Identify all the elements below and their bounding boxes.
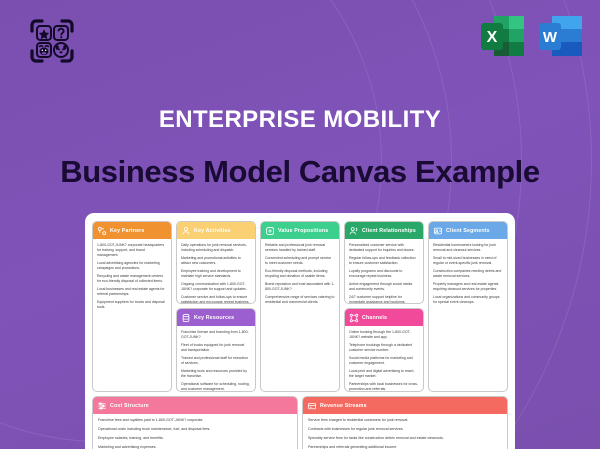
bullet: Marketing tools and resources provided b… <box>181 369 251 379</box>
cost-icon <box>97 401 107 411</box>
block-title: Client Segments <box>446 228 490 234</box>
bullet: Eco-friendly disposal methods, including… <box>265 269 335 279</box>
bullet: Employee salaries, training, and benefit… <box>98 436 292 441</box>
block-body: Personalized customer service with dedic… <box>345 239 423 303</box>
bullet: Personalized customer service with dedic… <box>349 243 419 253</box>
bullet: Equipment suppliers for trucks and dispo… <box>97 300 167 310</box>
bullet: Convenient scheduling and prompt service… <box>265 256 335 266</box>
bullet: Contracts with businesses for regular ju… <box>308 427 502 432</box>
bullet: Daily operations for junk removal servic… <box>181 243 251 253</box>
cow-icon <box>37 43 51 57</box>
activities-icon <box>181 226 191 236</box>
bullet: Comprehensive range of services catering… <box>265 295 335 305</box>
bullet: Regular follow-ups and feedback collecti… <box>349 256 419 266</box>
bullet: Trained and professional staff for execu… <box>181 356 251 366</box>
bullet: Franchise fees and royalties paid to 1-8… <box>98 418 292 423</box>
svg-text:W: W <box>543 29 558 46</box>
canvas-block-key-partners[interactable]: Key Partners 1-800-GOT-JUNK? corporate h… <box>92 221 172 392</box>
bullet: 24/7 customer support helpline for immed… <box>349 295 419 303</box>
svg-text:X: X <box>487 29 498 46</box>
block-title: Key Partners <box>110 228 144 234</box>
channels-icon <box>349 313 359 323</box>
bullet: Local businesses and real estate agents … <box>97 287 167 297</box>
page-title: Business Model Canvas Example <box>0 156 600 187</box>
brand-logo <box>22 14 82 68</box>
canvas-block-client-relationships[interactable]: Client Relationships Personalized custom… <box>344 221 424 304</box>
bullet: Telephone bookings through a dedicated c… <box>349 343 419 353</box>
block-title: Revenue Streams <box>320 403 367 409</box>
block-body: Franchise license and branding from 1-80… <box>177 326 255 391</box>
bullet: Local print and digital advertising to r… <box>349 369 419 379</box>
canvas-block-revenue-streams[interactable]: Revenue Streams Service fees charged to … <box>302 396 508 449</box>
canvas-block-key-resources[interactable]: Key Resources Franchise license and bran… <box>176 308 256 392</box>
canvas-top-row: Key Partners 1-800-GOT-JUNK? corporate h… <box>92 221 508 392</box>
relationships-icon <box>349 226 359 236</box>
bullet: Online booking through the 1-800-GOT-JUN… <box>349 330 419 340</box>
bullet: Loyalty programs and discounts to encour… <box>349 269 419 279</box>
bullet: Construction companies needing debris an… <box>433 269 503 279</box>
bullet: Operational software for scheduling, rou… <box>181 382 251 391</box>
slide-canvas: X W ENTERPRISE MOBILITY Business Model C… <box>0 0 600 449</box>
canvas-block-cost-structure[interactable]: Cost Structure Franchise fees and royalt… <box>92 396 298 449</box>
revenue-icon <box>307 401 317 411</box>
canvas-block-client-segments[interactable]: Client Segments Residential homeowners l… <box>428 221 508 392</box>
block-title: Channels <box>362 315 387 321</box>
value-icon <box>265 226 275 236</box>
bullet: Franchise license and branding from 1-80… <box>181 330 251 340</box>
bullet: Marketing and promotional activities to … <box>181 256 251 266</box>
block-body: Reliable and professional junk removal s… <box>261 239 339 391</box>
bullet: Service fees charged to residential cust… <box>308 418 502 423</box>
question-mark-icon <box>54 26 68 40</box>
bullet: Property managers and real estate agents… <box>433 282 503 292</box>
bullet: 1-800-GOT-JUNK? corporate headquarters f… <box>97 243 167 257</box>
canvas-block-value-propositions[interactable]: Value Propositions Reliable and professi… <box>260 221 340 392</box>
bullet: Partnerships with local businesses for c… <box>349 382 419 391</box>
segments-icon <box>433 226 443 236</box>
bullet: Ongoing communication with 1-800-GOT-JUN… <box>181 282 251 292</box>
bullet: Social media platforms for marketing and… <box>349 356 419 366</box>
block-title: Value Propositions <box>278 228 328 234</box>
block-body: Franchise fees and royalties paid to 1-8… <box>93 414 297 449</box>
bullet: Customer service and follow-ups to ensur… <box>181 295 251 303</box>
block-title: Key Activities <box>194 228 231 234</box>
block-body: Service fees charged to residential cust… <box>303 414 507 449</box>
excel-icon[interactable]: X <box>480 12 528 62</box>
block-title: Cost Structure <box>110 403 149 409</box>
bullet: Small to mid-sized businesses in need of… <box>433 256 503 266</box>
bullet: Employee training and development to mai… <box>181 269 251 279</box>
canvas-block-channels[interactable]: Channels Online booking through the 1-80… <box>344 308 424 392</box>
resources-icon <box>181 313 191 323</box>
bullet: Partnerships and referrals generating ad… <box>308 445 502 449</box>
block-body: Daily operations for junk removal servic… <box>177 239 255 303</box>
dog-icon <box>54 43 68 57</box>
block-body: 1-800-GOT-JUNK? corporate headquarters f… <box>93 239 171 391</box>
bullet: Operational costs including truck mainte… <box>98 427 292 432</box>
bullet: Local organizations and community groups… <box>433 295 503 305</box>
bullet: Local advertising agencies for marketing… <box>97 261 167 271</box>
bullet: Fleet of trucks equipped for junk remova… <box>181 343 251 353</box>
block-title: Key Resources <box>194 315 234 321</box>
office-app-icons: X W <box>480 12 586 62</box>
business-model-canvas: Key Partners 1-800-GOT-JUNK? corporate h… <box>85 213 515 449</box>
bullet: Brand reputation and trust associated wi… <box>265 282 335 292</box>
bullet: Reliable and professional junk removal s… <box>265 243 335 253</box>
canvas-bottom-row: Cost Structure Franchise fees and royalt… <box>92 396 508 449</box>
block-body: Online booking through the 1-800-GOT-JUN… <box>345 326 423 391</box>
title-block: ENTERPRISE MOBILITY Business Model Canva… <box>0 108 600 187</box>
bullet: Recycling and waste management centers f… <box>97 274 167 284</box>
bullet: Specialty service fees for tasks like co… <box>308 436 502 441</box>
eyebrow-text: ENTERPRISE MOBILITY <box>0 108 600 132</box>
star-icon <box>37 26 51 40</box>
block-body: Residential homeowners looking for junk … <box>429 239 507 391</box>
partners-icon <box>97 226 107 236</box>
bullet: Active engagement through social media a… <box>349 282 419 292</box>
block-title: Client Relationships <box>362 228 416 234</box>
bullet: Marketing and advertising expenses. <box>98 445 292 449</box>
word-icon[interactable]: W <box>538 12 586 62</box>
canvas-block-key-activities[interactable]: Key Activities Daily operations for junk… <box>176 221 256 304</box>
bullet: Residential homeowners looking for junk … <box>433 243 503 253</box>
